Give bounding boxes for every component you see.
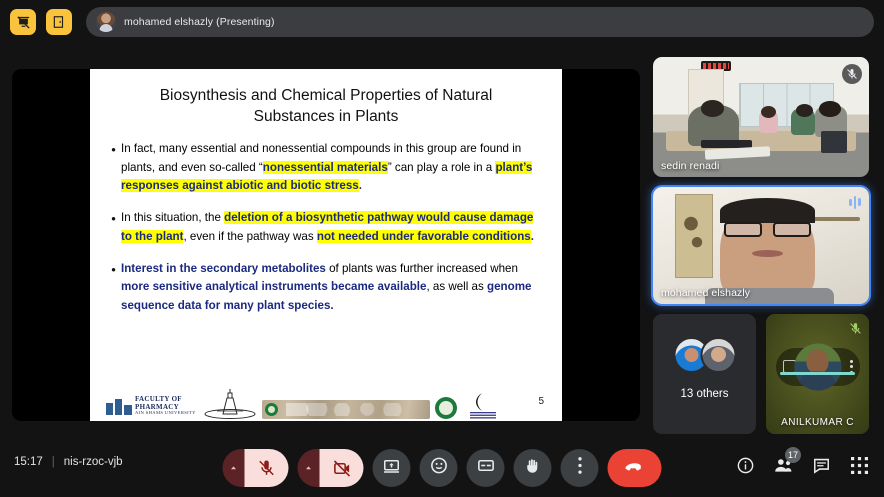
presenter-name: mohamed elshazly (Presenting) (124, 16, 275, 28)
info-icon (736, 456, 755, 480)
exit-door-icon (52, 15, 66, 29)
participant-name: sedin renadi (661, 160, 719, 172)
separator: | (52, 456, 55, 468)
slide-footer-logos: FACULTY OF PHARMACY AIN SHAMS UNIVERSITY (106, 387, 546, 421)
mic-off-icon[interactable] (245, 449, 289, 487)
mic-off-icon (845, 318, 865, 338)
slide-bullet: • Interest in the secondary metabolites … (106, 260, 546, 316)
shared-slide: Biosynthesis and Chemical Properties of … (90, 69, 562, 421)
end-call-phone-icon (624, 455, 646, 482)
presentation-stage[interactable]: Biosynthesis and Chemical Properties of … (12, 69, 640, 421)
present-screen-button[interactable] (373, 449, 411, 487)
meeting-details-button[interactable] (732, 455, 758, 481)
avatar (96, 12, 116, 32)
slide-title: Biosynthesis and Chemical Properties of … (106, 81, 546, 128)
more-vertical-icon (577, 456, 582, 480)
tower-logo (203, 389, 257, 419)
leave-door-icon-button[interactable] (46, 9, 72, 35)
slide-body: • In fact, many essential and nonessenti… (106, 140, 546, 387)
mic-off-icon (842, 64, 862, 84)
green-seal-logo (435, 397, 457, 419)
more-options-button[interactable] (561, 449, 599, 487)
raise-hand-button[interactable] (514, 449, 552, 487)
camera-toggle[interactable] (298, 449, 364, 487)
decorative-bar (780, 372, 854, 375)
pharmacy-building-icon (106, 397, 132, 415)
avatar (700, 337, 736, 373)
leave-call-button[interactable] (608, 449, 662, 487)
bullet-text: In fact, many essential and nonessential… (121, 140, 546, 196)
video-feed (653, 57, 869, 177)
participant-tile-sedin-renadi[interactable]: sedin renadi (653, 57, 869, 177)
right-controls: 17 (732, 455, 872, 481)
participant-tile-anilkumar-c[interactable]: ANILKUMAR C (766, 314, 869, 434)
participant-tile-mohamed-elshazly[interactable]: mohamed elshazly (653, 187, 869, 304)
video-off-icon[interactable] (320, 449, 364, 487)
bullet-marker: • (106, 140, 121, 196)
banner-strip-logo (262, 400, 430, 419)
others-count-label: 13 others (653, 388, 756, 400)
chevron-up-icon[interactable] (298, 449, 320, 487)
slide-bullet: • In this situation, the deletion of a b… (106, 209, 546, 247)
reactions-button[interactable] (420, 449, 458, 487)
people-button[interactable]: 17 (770, 455, 796, 481)
chevron-up-icon[interactable] (223, 449, 245, 487)
slide-bullet: • In fact, many essential and nonessenti… (106, 140, 546, 196)
raised-hand-icon (524, 457, 542, 480)
closed-captions-icon (476, 456, 495, 480)
participant-tile-others[interactable]: 13 others (653, 314, 756, 434)
grid-apps-icon (851, 457, 868, 479)
people-count-badge: 17 (785, 447, 801, 463)
avatar-stack (673, 337, 736, 373)
emoji-smile-icon (429, 456, 448, 480)
captions-button[interactable] (467, 449, 505, 487)
google-meet-window: mohamed elshazly (Presenting) Biosynthes… (0, 0, 884, 497)
speaking-bars-icon (849, 195, 861, 209)
bullet-text: Interest in the secondary metabolites of… (121, 260, 546, 316)
meeting-info: 15:17 | nis-rzoc-vjb (14, 456, 123, 468)
activities-button[interactable] (846, 455, 872, 481)
faculty-of-pharmacy-logo: FACULTY OF PHARMACY AIN SHAMS UNIVERSITY (106, 393, 198, 419)
microphone-toggle[interactable] (223, 449, 289, 487)
present-screen-icon (383, 457, 401, 480)
bullet-text: In this situation, the deletion of a bio… (121, 209, 546, 247)
presentation-off-icon (16, 15, 31, 30)
participant-name: mohamed elshazly (661, 287, 750, 299)
bullet-marker: • (106, 209, 121, 247)
top-bar: mohamed elshazly (Presenting) (0, 0, 884, 44)
chat-button[interactable] (808, 455, 834, 481)
bottom-bar: 15:17 | nis-rzoc-vjb (0, 439, 884, 497)
participant-name: ANILKUMAR C (766, 417, 869, 428)
arabic-crest-logo (462, 391, 504, 419)
slide-page-number: 5 (538, 396, 544, 407)
bullet-marker: • (106, 260, 121, 316)
presenter-banner: mohamed elshazly (Presenting) (86, 7, 874, 37)
meeting-code: nis-rzoc-vjb (64, 456, 123, 468)
presentation-off-icon-button[interactable] (10, 9, 36, 35)
avatar (794, 343, 841, 390)
chat-bubble-icon (812, 456, 831, 480)
clock-time: 15:17 (14, 456, 43, 468)
call-controls (223, 449, 662, 487)
